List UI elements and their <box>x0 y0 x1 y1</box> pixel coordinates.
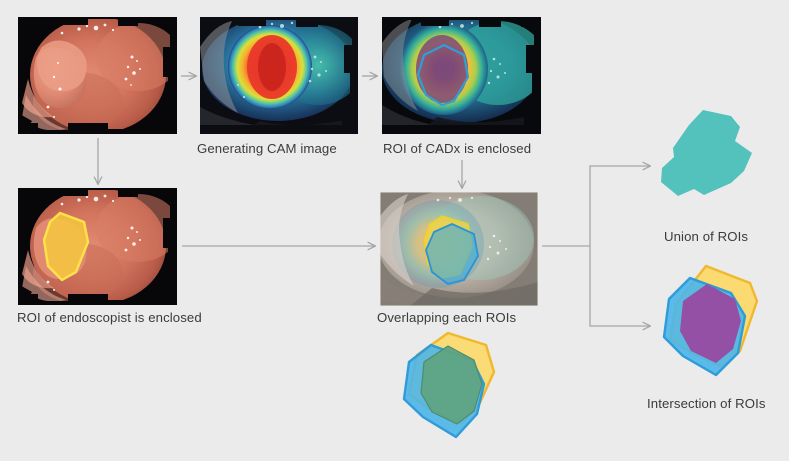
caption-overlapping-each-rois: Overlapping each ROIs <box>377 310 516 325</box>
caption-intersection-of-rois: Intersection of ROIs <box>647 396 766 411</box>
figure-root: Generating CAM image ROI of CADx is encl… <box>0 0 789 461</box>
caption-roi-of-cadx: ROI of CADx is enclosed <box>383 141 531 156</box>
caption-generating-cam-image: Generating CAM image <box>197 141 337 156</box>
caption-union-of-rois: Union of ROIs <box>664 229 748 244</box>
caption-roi-of-endoscopist: ROI of endoscopist is enclosed <box>17 310 202 325</box>
